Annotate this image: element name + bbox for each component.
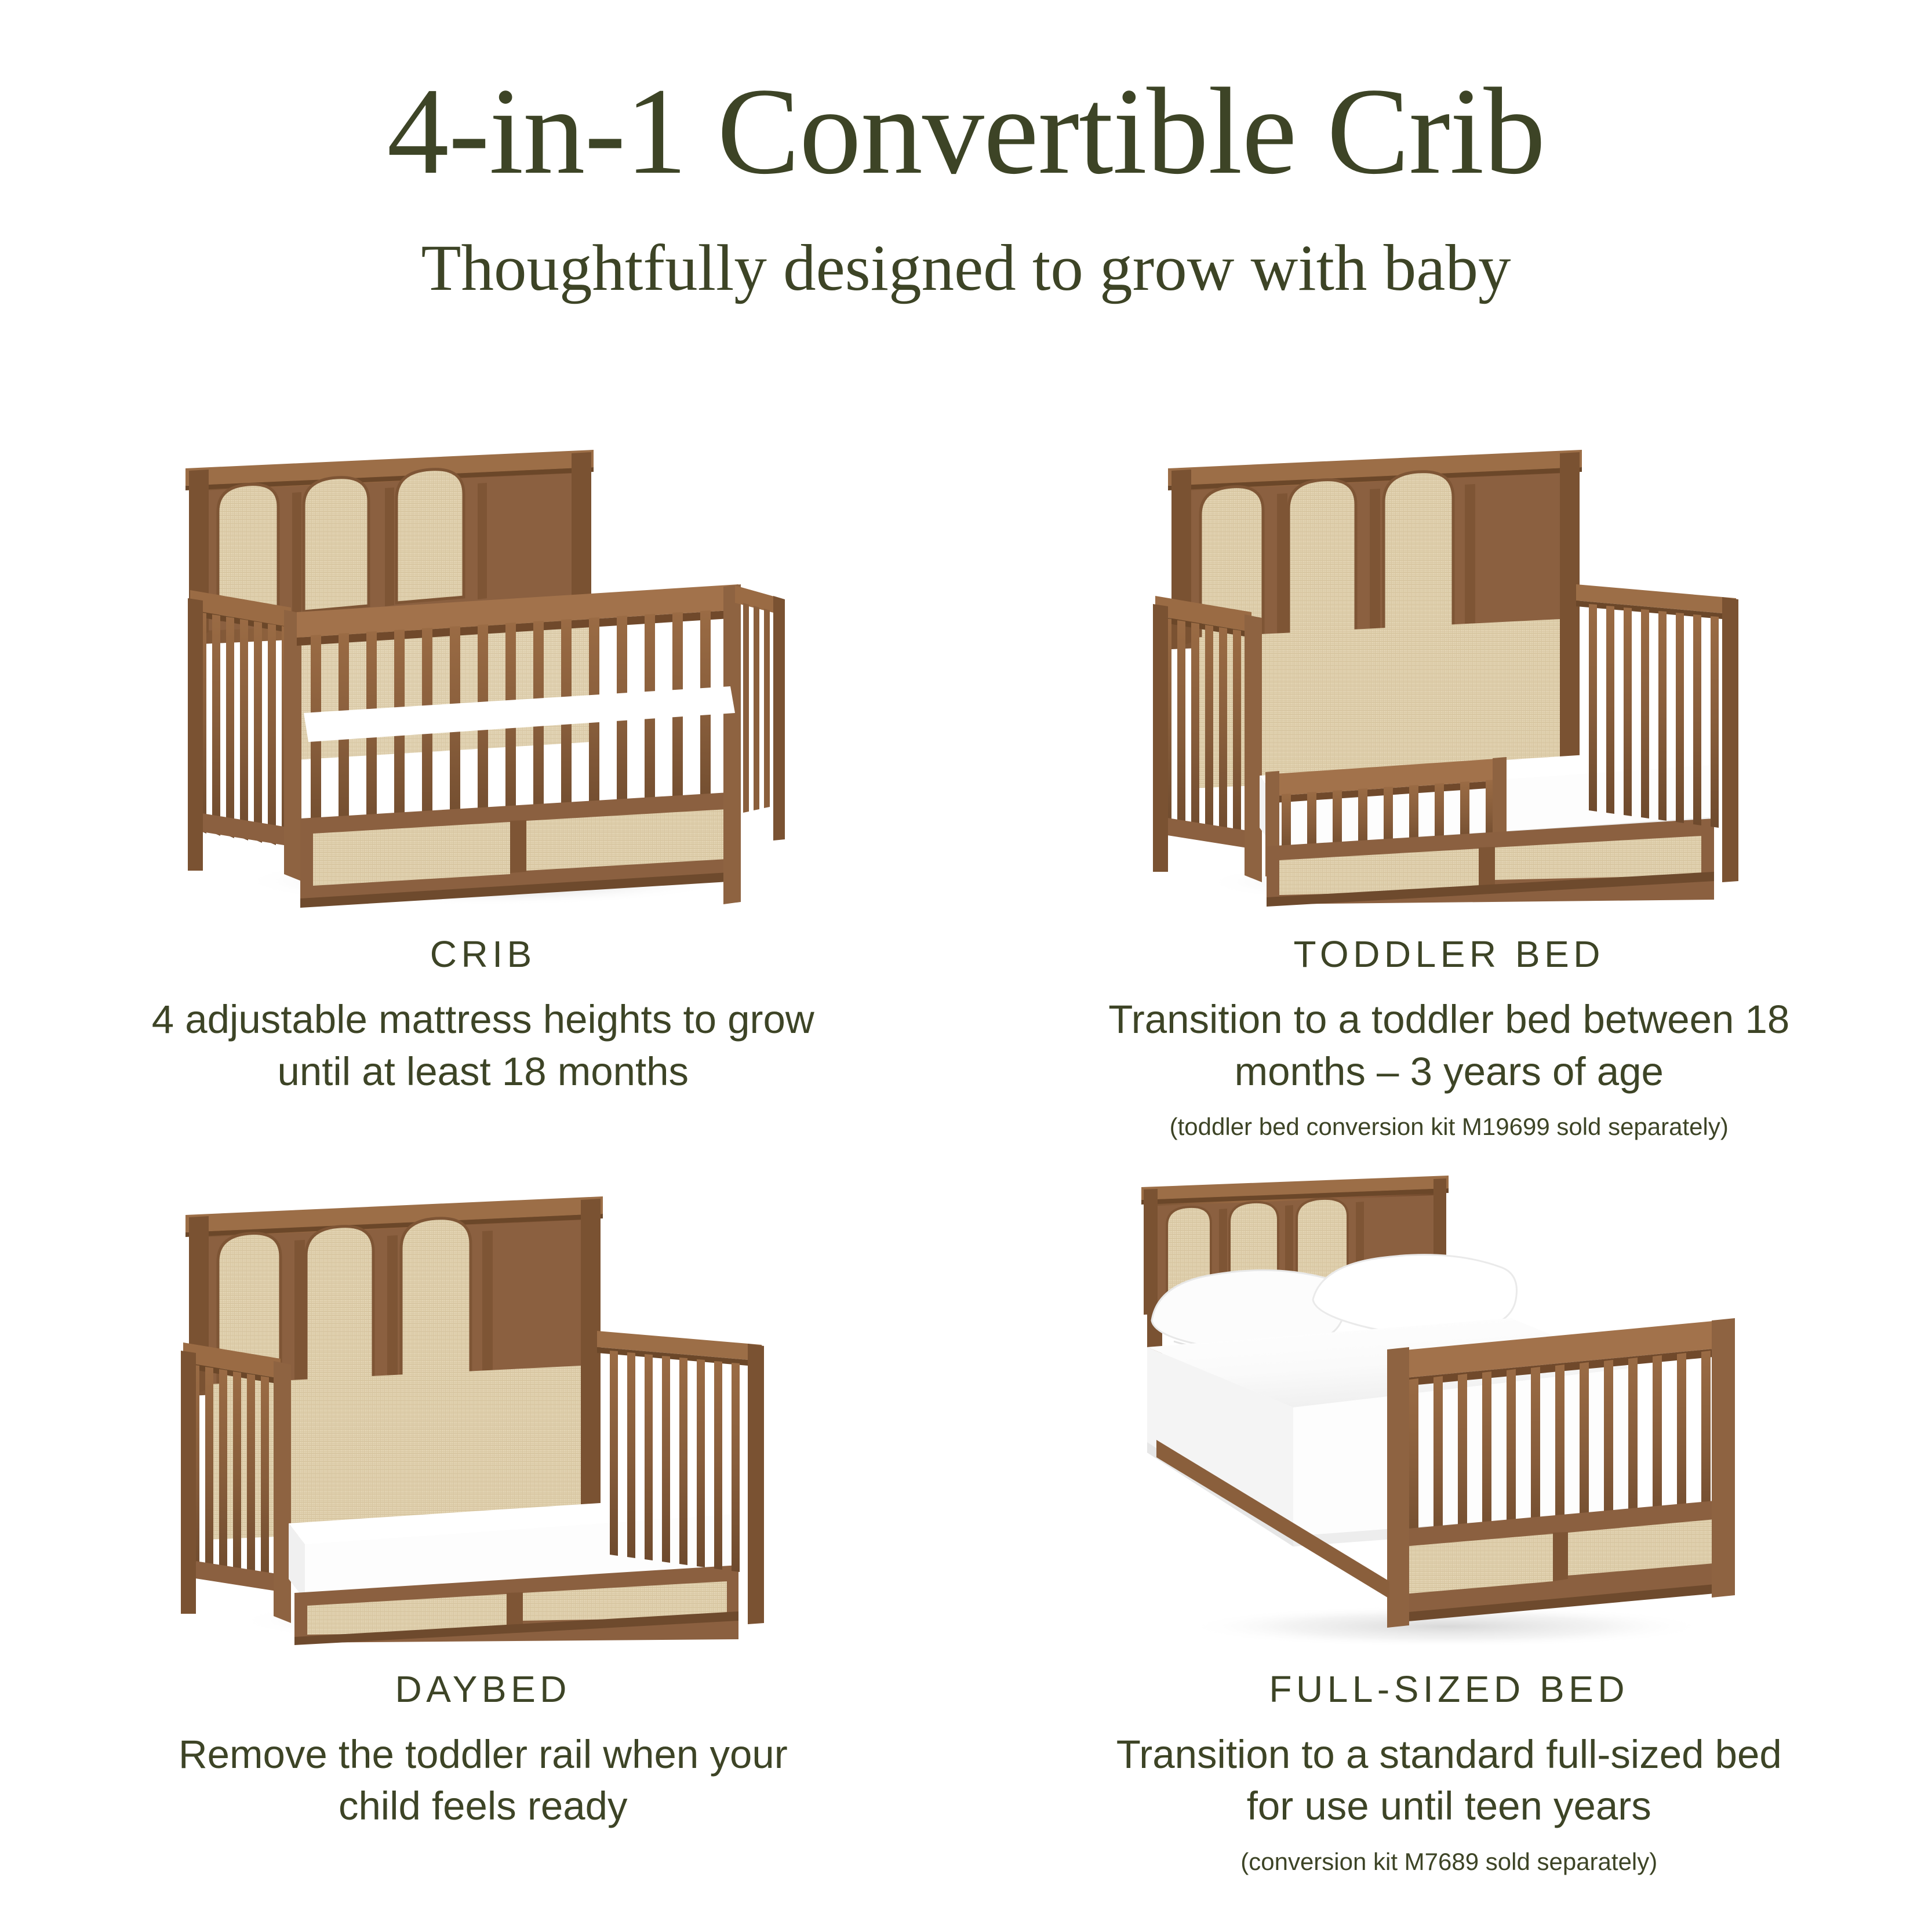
- full-sized-bed-illustration: [1122, 1176, 1777, 1645]
- card-toddler-bed: TODDLER BED Transition to a toddler bed …: [966, 441, 1932, 1142]
- card-body: 4 adjustable mattress heights to grow un…: [141, 994, 825, 1097]
- card-title: FULL-SIZED BED: [1269, 1671, 1629, 1708]
- crib-right-side-panel: [735, 585, 785, 841]
- toddler-bed-illustration: [1122, 441, 1777, 910]
- page-title: 4-in-1 Convertible Crib: [0, 70, 1932, 194]
- card-full-sized-bed: FULL-SIZED BED Transition to a standard …: [966, 1176, 1932, 1877]
- card-title: DAYBED: [395, 1671, 571, 1708]
- card-crib: CRIB 4 adjustable mattress heights to gr…: [0, 441, 966, 1142]
- daybed-left-side-panel: [181, 1342, 291, 1623]
- card-title: CRIB: [430, 936, 536, 973]
- infographic-page: 4-in-1 Convertible Crib Thoughtfully des…: [0, 0, 1932, 1932]
- crib-arch-panels: [218, 470, 464, 620]
- card-body: Transition to a toddler bed between 18 m…: [1107, 994, 1791, 1097]
- crib-left-side-panel: [188, 590, 301, 881]
- header: 4-in-1 Convertible Crib Thoughtfully des…: [0, 70, 1932, 301]
- card-title: TODDLER BED: [1293, 936, 1604, 973]
- product-stage-grid: CRIB 4 adjustable mattress heights to gr…: [0, 441, 1932, 1877]
- page-subtitle: Thoughtfully designed to grow with baby: [0, 235, 1932, 301]
- card-note: (toddler bed conversion kit M19699 sold …: [1170, 1112, 1729, 1141]
- card-body: Remove the toddler rail when your child …: [141, 1729, 825, 1832]
- toddler-left-side-panel: [1153, 596, 1262, 882]
- full-bed-footboard: [1387, 1318, 1735, 1628]
- card-daybed: DAYBED Remove the toddler rail when your…: [0, 1176, 966, 1877]
- crib-illustration: [155, 441, 810, 910]
- card-body: Transition to a standard full-sized bed …: [1107, 1729, 1791, 1832]
- card-note: (conversion kit M7689 sold separately): [1240, 1847, 1657, 1876]
- daybed-illustration: [155, 1176, 810, 1645]
